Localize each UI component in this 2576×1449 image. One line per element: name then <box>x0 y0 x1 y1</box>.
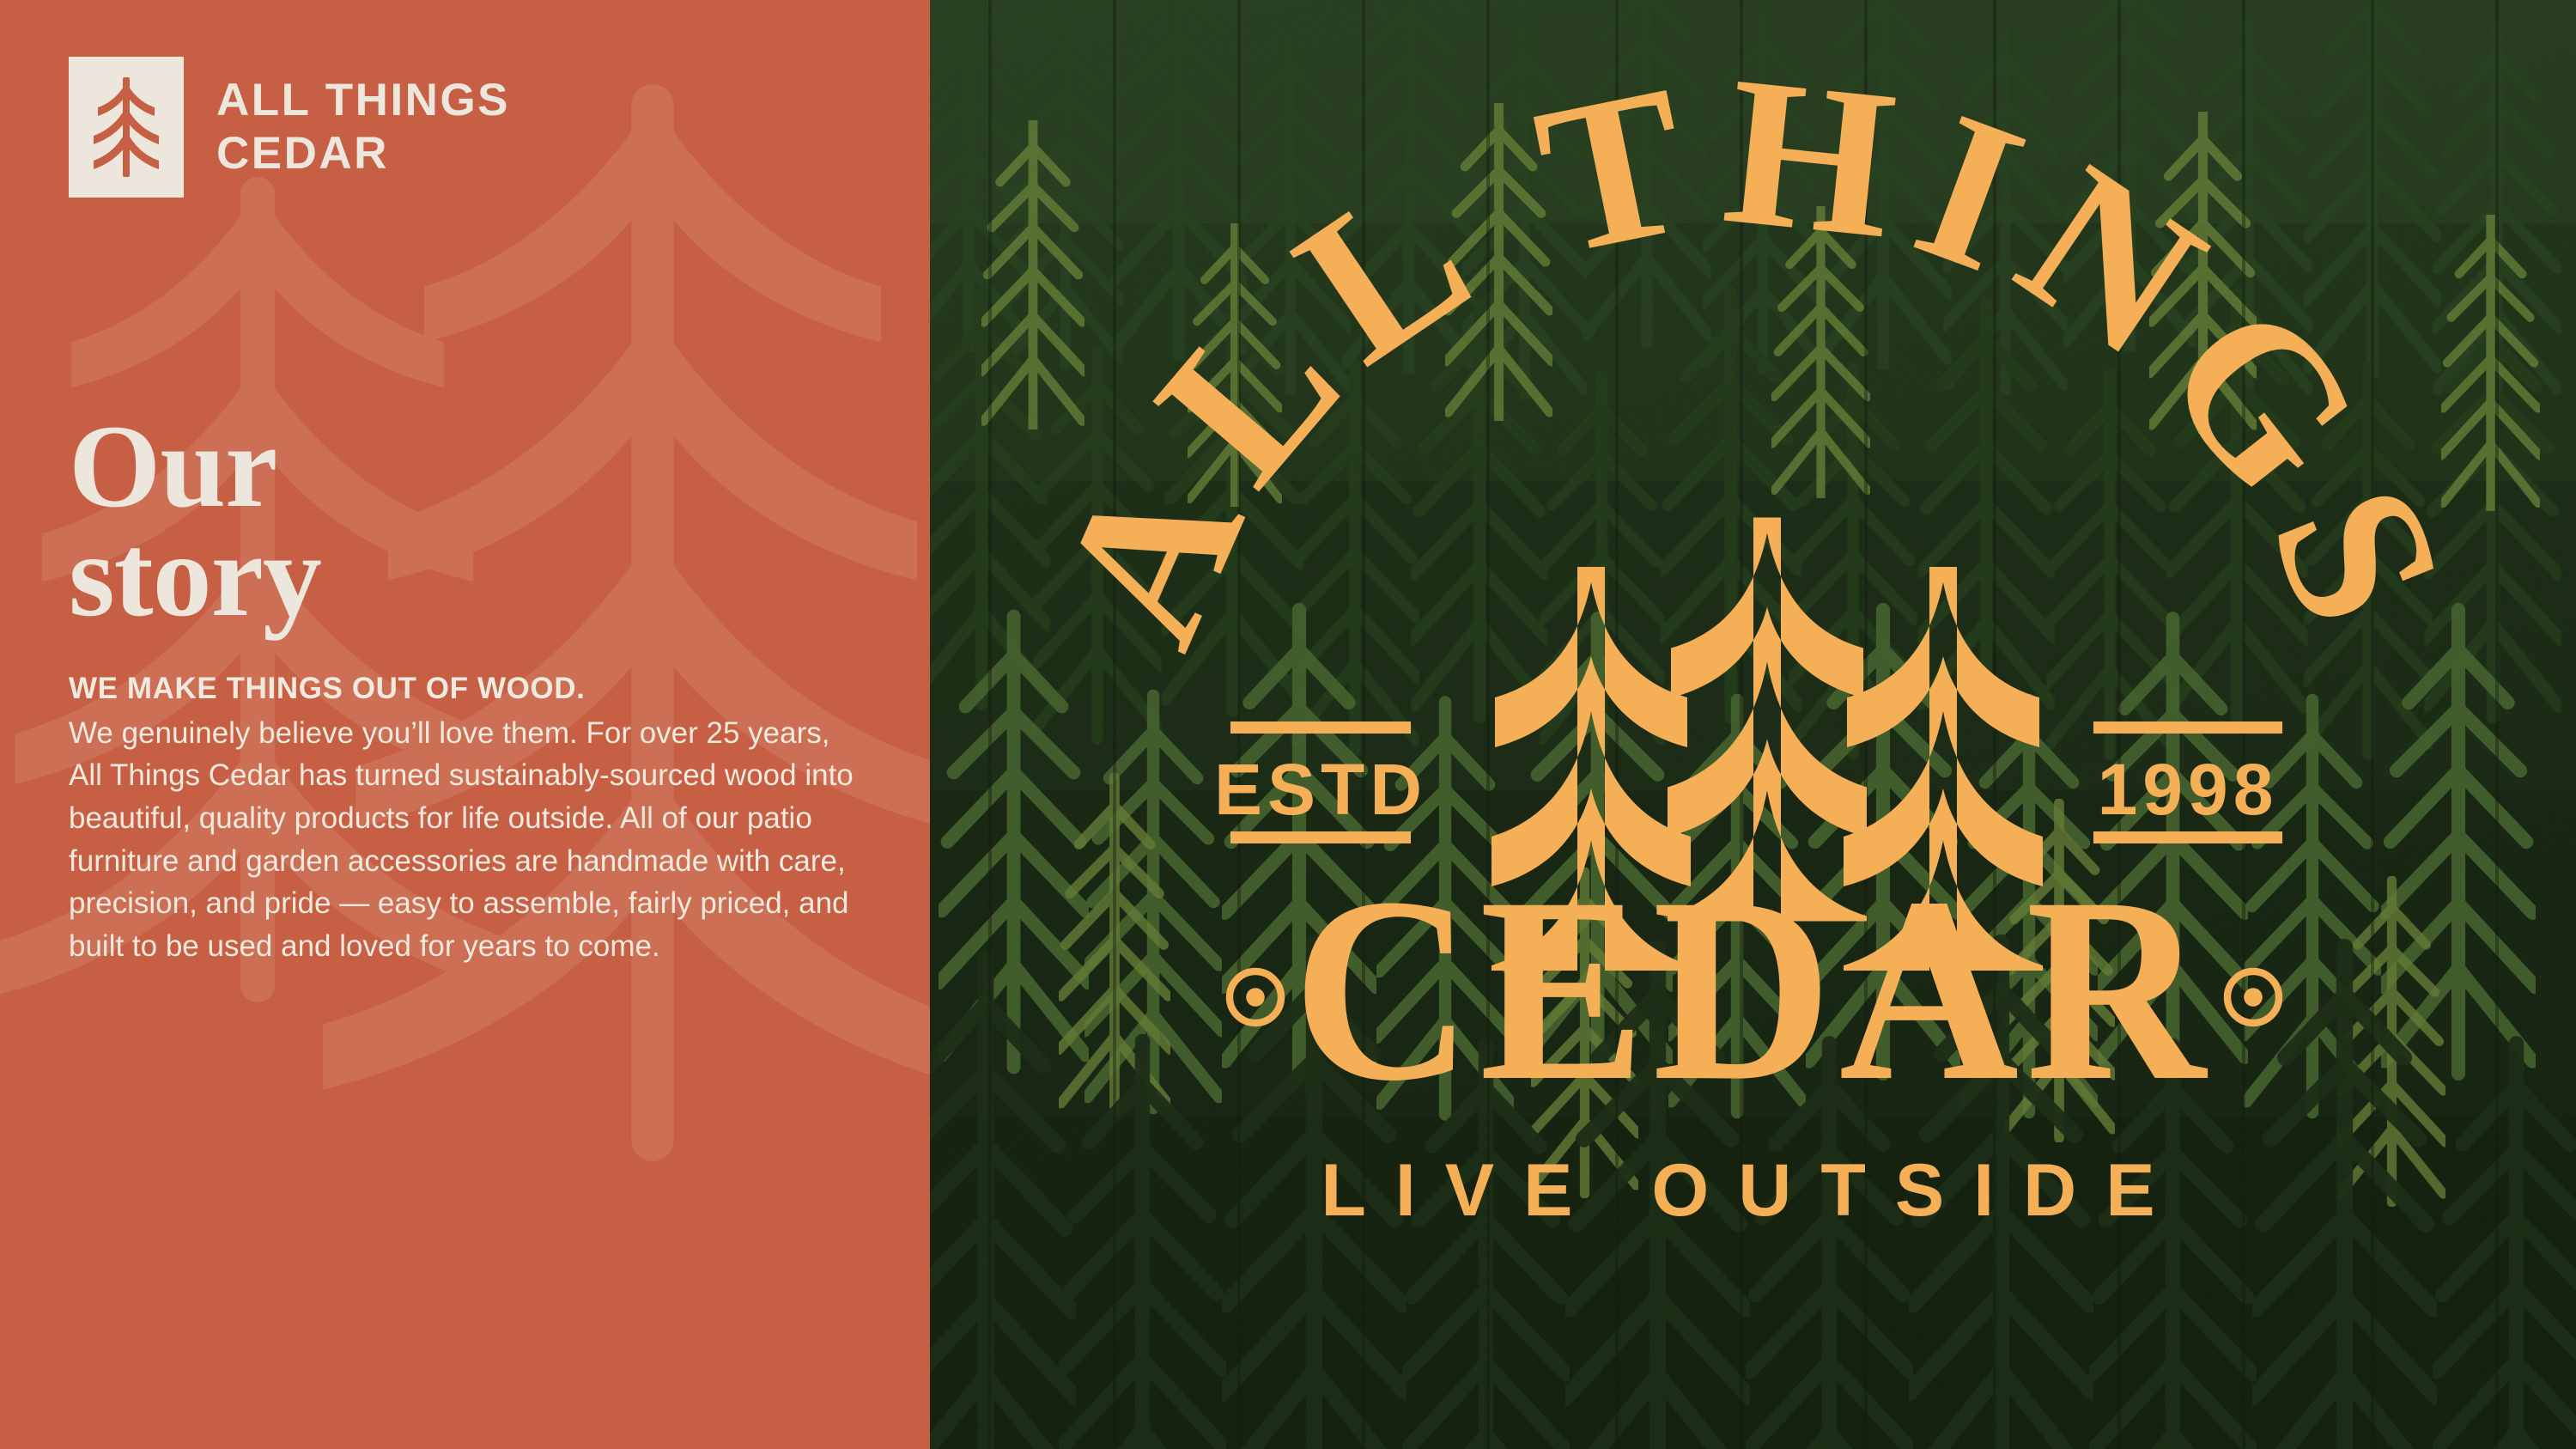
about-hero-banner: ALL THINGS CEDAR Our story WE MAKE THING… <box>0 0 2576 1449</box>
svg-text:ESTD: ESTD <box>1214 749 1427 830</box>
emblem-arc-text: ALL THINGS <box>1011 31 2498 675</box>
page-title: Our story <box>69 412 876 630</box>
emblem-tagline: LIVE OUTSIDE <box>1321 1149 2184 1232</box>
emblem-wordmark: CEDAR <box>1292 843 2212 1135</box>
pine-tree-icon <box>69 57 184 198</box>
story-lead-line: WE MAKE THINGS OUT OF WOOD. <box>69 670 876 709</box>
brand-lockup[interactable]: ALL THINGS CEDAR <box>69 57 510 198</box>
forest-emblem-panel: ALL THINGS ESTD <box>930 0 2576 1449</box>
established-year-group: 1998 <box>2093 721 2282 843</box>
story-panel: ALL THINGS CEDAR Our story WE MAKE THING… <box>0 0 930 1449</box>
svg-text:1998: 1998 <box>2098 749 2279 830</box>
brand-name: ALL THINGS CEDAR <box>216 74 510 180</box>
story-content: Our story WE MAKE THINGS OUT OF WOOD. We… <box>69 412 876 968</box>
established-label-group: ESTD <box>1214 721 1427 843</box>
story-body-text: We genuinely believe you’ll love them. F… <box>69 712 859 968</box>
cedar-emblem: ALL THINGS ESTD <box>930 0 2576 1449</box>
